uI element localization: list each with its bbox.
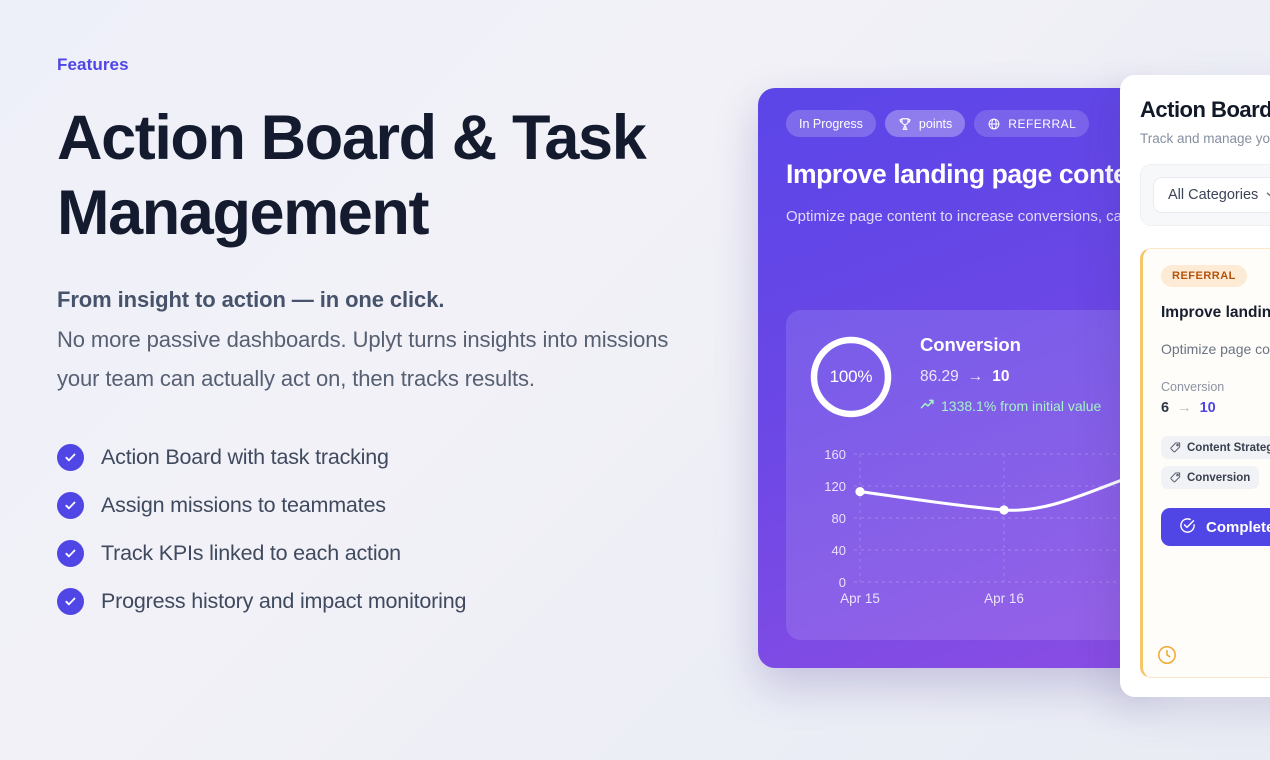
kpi-label: Conversion	[1161, 380, 1270, 394]
svg-text:Apr 16: Apr 16	[984, 591, 1024, 606]
metric-target: 10	[992, 368, 1009, 386]
progress-ring: 100%	[810, 336, 892, 418]
arrow-right-icon: →	[968, 368, 984, 386]
list-item: Assign missions to teammates	[57, 492, 737, 519]
feature-label: Track KPIs linked to each action	[101, 541, 401, 566]
status-badge: REFERRAL	[1161, 265, 1247, 287]
arrow-right-icon: →	[1177, 400, 1192, 416]
svg-text:Apr 15: Apr 15	[840, 591, 880, 606]
check-circle-icon	[57, 588, 84, 615]
referral-badge: REFERRAL	[974, 110, 1089, 137]
feature-list: Action Board with task tracking Assign m…	[57, 444, 737, 615]
svg-text:40: 40	[832, 543, 846, 558]
feature-label: Action Board with task tracking	[101, 445, 389, 470]
lead-paragraph: No more passive dashboards. Uplyt turns …	[57, 321, 697, 398]
section-eyebrow: Features	[57, 55, 737, 75]
mission-description: Optimize page content to increase conver…	[786, 205, 1130, 229]
trophy-icon	[898, 117, 912, 131]
progress-percent: 100%	[810, 336, 892, 418]
points-badge: points	[885, 110, 965, 137]
svg-text:120: 120	[824, 479, 846, 494]
tag-chip[interactable]: Content Strategy	[1161, 436, 1270, 459]
list-item: Track KPIs linked to each action	[57, 540, 737, 567]
lead-tagline: From insight to action — in one click.	[57, 287, 737, 313]
mission-title: Improve landing page content for Hyaluro…	[786, 157, 1130, 191]
kpi-to: 10	[1200, 400, 1216, 416]
check-circle-icon	[57, 540, 84, 567]
svg-text:0: 0	[839, 575, 846, 590]
metric-delta: 1338.1% from initial value	[920, 398, 1101, 414]
badge-row: In Progress points REFERRAL	[786, 110, 1130, 137]
category-filter-value: All Categories	[1168, 187, 1258, 203]
list-item: Action Board with task tracking	[57, 444, 737, 471]
chevron-down-icon	[1266, 191, 1270, 199]
metric-delta-text: 1338.1% from initial value	[941, 398, 1101, 414]
status-badge: In Progress	[786, 110, 876, 137]
metric-values: 86.29 → 10	[920, 368, 1101, 386]
filter-bar: All Categories	[1140, 164, 1270, 226]
tag-icon	[1170, 442, 1181, 453]
tag-chip[interactable]: Conversion	[1161, 466, 1259, 489]
tag-chip-list: Content Strategy Conversion	[1161, 436, 1270, 496]
trend-up-icon	[920, 398, 935, 414]
tag-icon	[1170, 472, 1181, 483]
svg-text:80: 80	[832, 511, 846, 526]
task-card[interactable]: REFERRAL Improve landing page content fo…	[1140, 248, 1270, 678]
metric-current: 86.29	[920, 368, 959, 386]
complete-button[interactable]: Complete	[1161, 508, 1270, 546]
svg-text:160: 160	[824, 447, 846, 462]
feature-label: Progress history and impact monitoring	[101, 589, 466, 614]
points-label: points	[919, 117, 952, 131]
kpi-from: 6	[1161, 400, 1169, 416]
category-filter-dropdown[interactable]: All Categories	[1153, 177, 1270, 213]
check-circle-icon	[57, 492, 84, 519]
board-title: Action Board	[1140, 97, 1270, 123]
tag-chip-label: Conversion	[1187, 472, 1250, 484]
metric-name: Conversion	[920, 334, 1101, 356]
page-title: Action Board & Task Management	[57, 101, 737, 251]
task-title: Improve landing page content for Hyaluro…	[1161, 301, 1270, 325]
task-description: Optimize page content to increase conver…	[1161, 338, 1270, 361]
action-board-panel: Action Board Track and manage your All C…	[1120, 75, 1270, 697]
metric-summary: 100% Conversion 86.29 → 10 1338.1% from …	[810, 334, 1134, 418]
board-subtitle: Track and manage your	[1140, 131, 1270, 146]
globe-icon	[987, 117, 1001, 131]
complete-button-label: Complete	[1206, 519, 1270, 536]
feature-label: Assign missions to teammates	[101, 493, 386, 518]
metric-panel: 100% Conversion 86.29 → 10 1338.1% from …	[786, 310, 1158, 640]
clock-icon	[1157, 645, 1177, 665]
referral-label: REFERRAL	[1008, 117, 1076, 131]
check-circle-icon	[57, 444, 84, 471]
check-circle-icon	[1179, 517, 1196, 538]
conversion-line-chart: 160 120 80 40 0 Apr 15 Apr 16	[810, 438, 1158, 618]
metric-details: Conversion 86.29 → 10 1338.1% from initi…	[920, 334, 1101, 414]
list-item: Progress history and impact monitoring	[57, 588, 737, 615]
kpi-values: 6 → 10	[1161, 400, 1270, 416]
hero-section: Features Action Board & Task Management …	[57, 55, 737, 636]
mission-card[interactable]: In Progress points REFERRAL Improve land…	[758, 88, 1158, 668]
tag-chip-label: Content Strategy	[1187, 442, 1270, 454]
